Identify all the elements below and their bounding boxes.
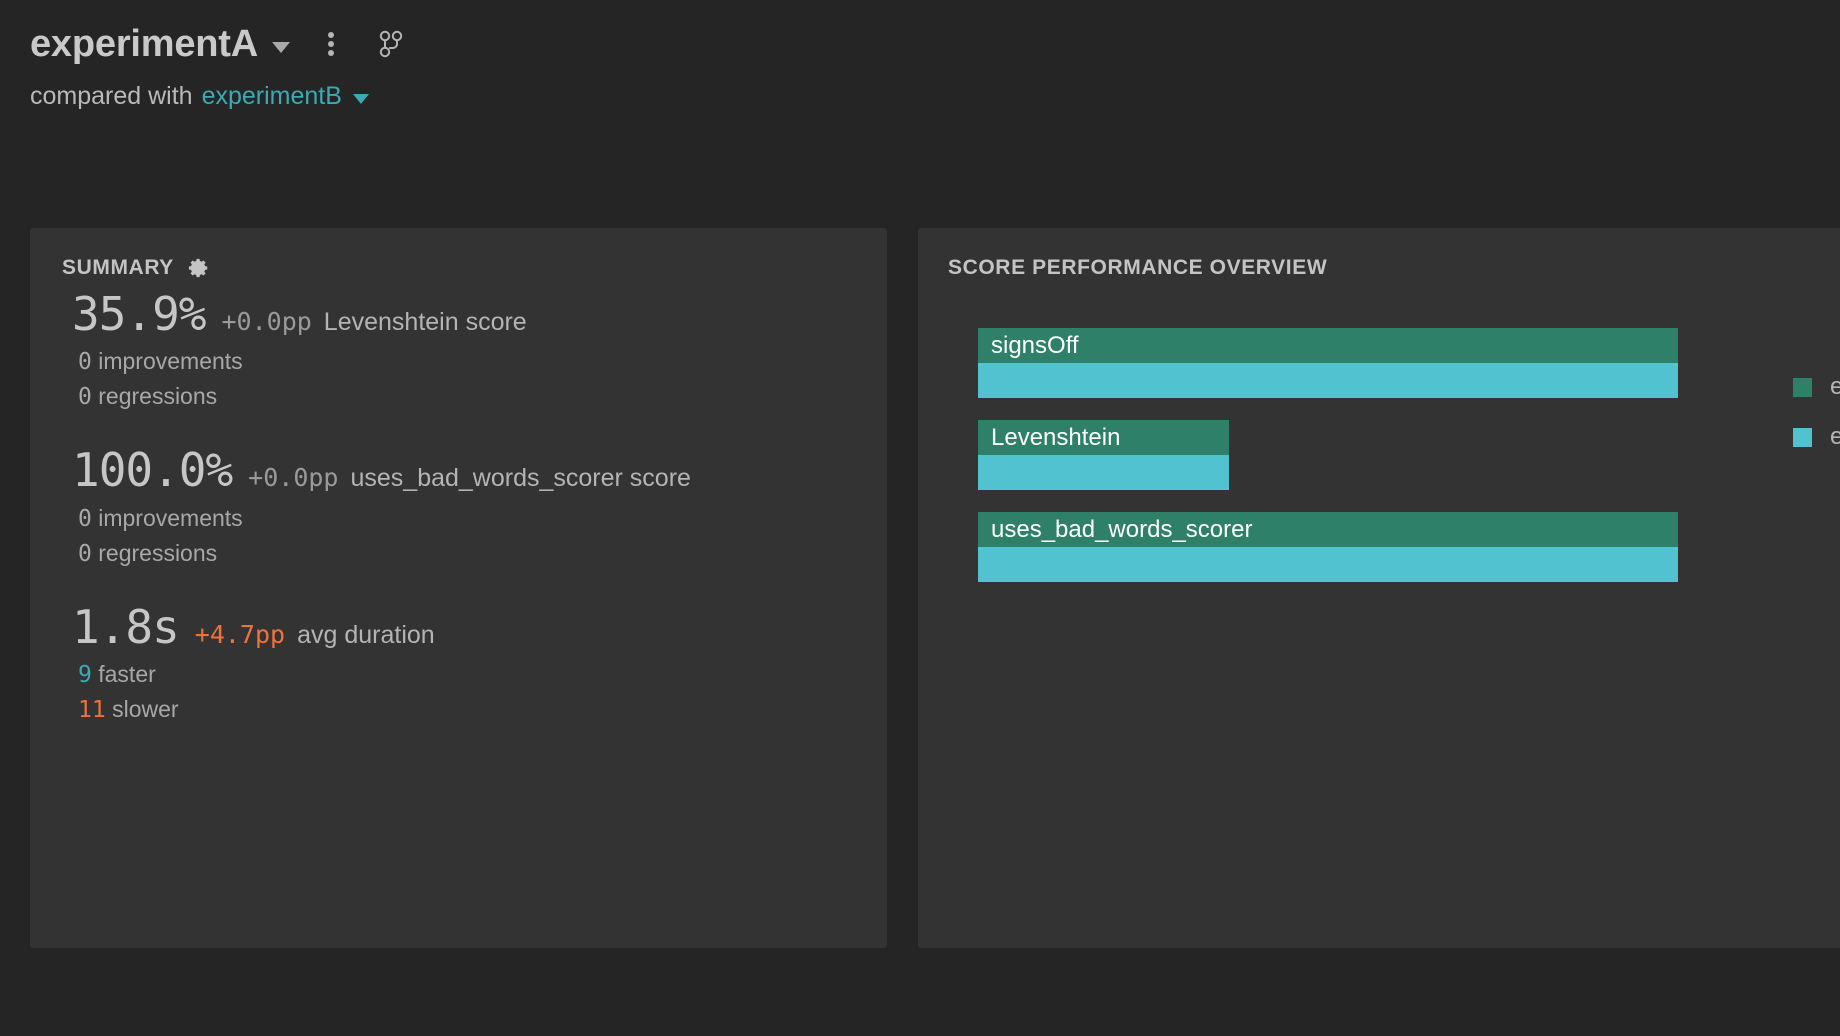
metric-delta: +0.0pp (221, 308, 311, 337)
metric-value: 100.0% (72, 444, 232, 496)
bar-groups: signsOffLevenshteinuses_bad_words_scorer (978, 328, 1840, 582)
legend-swatch-icon (1793, 378, 1812, 397)
git-branch-icon[interactable] (378, 29, 404, 59)
bar-group: signsOff (978, 328, 1840, 398)
improvements-count: 0 (78, 349, 92, 375)
improvements-label: improvements (98, 505, 242, 531)
metric-delta: +0.0pp (248, 464, 338, 493)
summary-metrics: 35.9% +0.0pp Levenshtein score 0 improve… (72, 288, 862, 723)
slower-count: 11 (78, 697, 106, 723)
improvements-count: 0 (78, 506, 92, 532)
title-row: experimentA (30, 18, 930, 70)
regressions-count: 0 (78, 384, 92, 410)
bar-category-label: signsOff (991, 332, 1079, 360)
gear-icon[interactable] (188, 257, 210, 279)
chart-panel-title: SCORE PERFORMANCE OVERVIEW (948, 256, 1840, 280)
summary-title-text: SUMMARY (62, 256, 174, 280)
score-performance-panel: SCORE PERFORMANCE OVERVIEW signsOffLeven… (918, 228, 1840, 948)
bar-experimentB[interactable] (978, 363, 1678, 398)
chart-legend: experimentAexperimentB (1793, 375, 1840, 475)
faster-label: faster (98, 661, 156, 687)
kebab-menu-icon[interactable] (328, 32, 334, 56)
metric-block: 100.0% +0.0pp uses_bad_words_scorer scor… (72, 444, 862, 566)
legend-label: experimentA (1830, 375, 1840, 399)
bar-group: uses_bad_words_scorer (978, 512, 1840, 582)
summary-panel-title: SUMMARY (62, 256, 887, 280)
metric-regressions: 0 regressions (78, 540, 862, 567)
kebab-dot-1 (328, 32, 334, 38)
bar-category-label: uses_bad_words_scorer (991, 516, 1252, 544)
improvements-label: improvements (98, 348, 242, 374)
metric-improvements: 0 improvements (78, 505, 862, 532)
legend-label: experimentB (1830, 425, 1840, 449)
compare-chevron-down-icon[interactable] (353, 94, 369, 104)
metric-headline: 1.8s +4.7pp avg duration (72, 601, 862, 653)
summary-panel: SUMMARY 35.9% +0.0pp Levenshtein score 0… (30, 228, 887, 948)
regressions-label: regressions (98, 540, 217, 566)
metric-regressions: 0 regressions (78, 383, 862, 410)
metric-headline: 100.0% +0.0pp uses_bad_words_scorer scor… (72, 444, 862, 496)
bar-experimentA[interactable]: Levenshtein (978, 420, 1229, 455)
metric-label: avg duration (297, 621, 435, 650)
metric-value: 1.8s (72, 601, 179, 653)
kebab-dot-2 (328, 41, 334, 47)
legend-item[interactable]: experimentA (1793, 375, 1840, 399)
bar-experimentB[interactable] (978, 455, 1229, 490)
page-title[interactable]: experimentA (30, 23, 258, 66)
regressions-count: 0 (78, 541, 92, 567)
bar-experimentA[interactable]: signsOff (978, 328, 1678, 363)
legend-swatch-icon (1793, 428, 1812, 447)
metric-headline: 35.9% +0.0pp Levenshtein score (72, 288, 862, 340)
metric-slower: 11 slower (78, 696, 862, 723)
bar-category-label: Levenshtein (991, 424, 1120, 452)
regressions-label: regressions (98, 383, 217, 409)
bar-chart: signsOffLevenshteinuses_bad_words_scorer… (978, 328, 1840, 888)
metric-label: uses_bad_words_scorer score (350, 464, 690, 493)
metric-delta: +4.7pp (195, 621, 285, 650)
bar-experimentA[interactable]: uses_bad_words_scorer (978, 512, 1678, 547)
metric-faster: 9 faster (78, 661, 862, 688)
experiment-header: experimentA compared with experimentB (30, 18, 930, 111)
bar-group: Levenshtein (978, 420, 1840, 490)
comparison-row: compared with experimentB (30, 82, 930, 111)
metric-improvements: 0 improvements (78, 348, 862, 375)
metric-value: 35.9% (72, 288, 205, 340)
metric-block: 35.9% +0.0pp Levenshtein score 0 improve… (72, 288, 862, 410)
metric-label: Levenshtein score (324, 308, 527, 337)
compared-with-label: compared with (30, 82, 193, 111)
metric-block: 1.8s +4.7pp avg duration 9 faster 11 slo… (72, 601, 862, 723)
chevron-down-icon[interactable] (272, 42, 290, 53)
slower-label: slower (112, 696, 178, 722)
legend-item[interactable]: experimentB (1793, 425, 1840, 449)
compared-experiment-link[interactable]: experimentB (202, 82, 342, 111)
bar-experimentB[interactable] (978, 547, 1678, 582)
faster-count: 9 (78, 662, 92, 688)
kebab-dot-3 (328, 50, 334, 56)
